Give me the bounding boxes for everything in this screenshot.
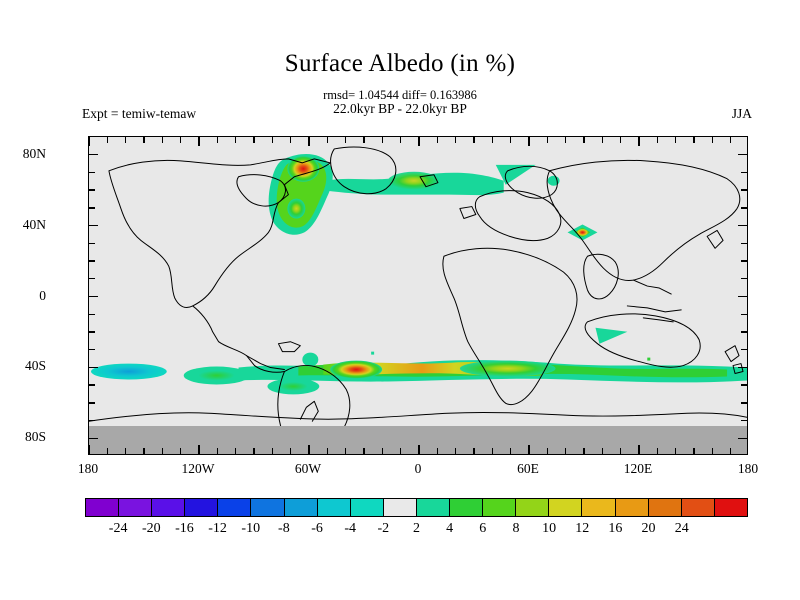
anomaly-tierra-del-fuego	[302, 353, 318, 367]
x-axis-label: 120E	[624, 461, 653, 477]
colorbar-cell[interactable]	[185, 499, 218, 516]
colorbar-tick-label: 2	[413, 521, 420, 537]
x-axis-tick	[162, 448, 163, 454]
x-axis-tick	[510, 448, 511, 454]
anomaly-south-pacific-cool	[91, 364, 167, 380]
experiment-label: Expt = temiw-temaw	[82, 106, 196, 122]
colorbar-cell[interactable]	[417, 499, 450, 516]
x-axis-tick	[510, 137, 511, 143]
x-axis-tick	[125, 137, 126, 143]
x-axis-tick	[180, 137, 181, 143]
colorbar-cell[interactable]	[616, 499, 649, 516]
x-axis-tick	[290, 137, 291, 143]
anomaly-south-pacific-green	[184, 367, 250, 385]
x-axis-tick	[418, 445, 419, 454]
x-axis-tick	[400, 448, 401, 454]
y-axis-tick	[738, 296, 747, 297]
colorbar-tick-label: 10	[542, 521, 556, 537]
y-axis-tick	[89, 278, 95, 279]
colorbar-cell[interactable]	[119, 499, 152, 516]
colorbar-tick-label: -12	[208, 521, 227, 537]
colorbar-cell[interactable]	[549, 499, 582, 516]
y-axis-tick	[738, 154, 747, 155]
x-axis-tick	[217, 448, 218, 454]
y-axis-tick	[741, 420, 747, 421]
chart-title: Surface Albedo (in %)	[0, 50, 800, 78]
x-axis-tick	[272, 137, 273, 143]
y-axis-tick	[89, 243, 95, 244]
x-axis-tick	[620, 137, 621, 143]
x-axis-tick	[363, 137, 364, 143]
y-axis-tick	[738, 225, 747, 226]
x-axis-label: 0	[415, 461, 422, 477]
y-axis-tick	[741, 402, 747, 403]
x-axis-tick	[730, 448, 731, 454]
colorbar-tick-label: -8	[278, 521, 290, 537]
x-axis-tick	[602, 137, 603, 143]
x-axis-tick	[88, 445, 89, 454]
season-label: JJA	[732, 106, 752, 122]
x-axis-tick	[620, 448, 621, 454]
x-axis-tick	[382, 137, 383, 143]
x-axis-tick	[730, 137, 731, 143]
x-axis-tick	[418, 137, 419, 146]
x-axis-label: 60E	[517, 461, 539, 477]
map-plot-area	[88, 136, 748, 455]
colorbar-tick-label: 4	[446, 521, 453, 537]
x-axis-tick	[638, 445, 639, 454]
x-axis-tick	[198, 445, 199, 454]
x-axis-tick	[693, 137, 694, 143]
y-axis-tick	[738, 367, 747, 368]
y-axis-tick	[741, 331, 747, 332]
colorbar-tick-label: 6	[479, 521, 486, 537]
colorbar-cell[interactable]	[483, 499, 516, 516]
x-axis-tick	[437, 137, 438, 143]
y-axis-tick	[89, 402, 95, 403]
x-axis-label: 60W	[295, 461, 321, 477]
x-axis-tick	[382, 448, 383, 454]
colorbar-cell[interactable]	[516, 499, 549, 516]
anomaly-south-indian-warm	[460, 361, 556, 377]
x-axis-tick	[455, 448, 456, 454]
colorbar-cell[interactable]	[86, 499, 119, 516]
colorbar-cell[interactable]	[715, 499, 747, 516]
figure-root: Surface Albedo (in %) rmsd= 1.04544 diff…	[0, 0, 800, 600]
y-axis-tick	[741, 349, 747, 350]
x-axis-tick	[565, 448, 566, 454]
x-axis-tick	[693, 448, 694, 454]
y-axis-label: 40N	[23, 217, 46, 233]
colorbar-tick-label: 8	[512, 521, 519, 537]
y-axis-tick	[89, 349, 95, 350]
colorbar-tick-label: -10	[241, 521, 260, 537]
x-axis-tick	[107, 448, 108, 454]
colorbar-tick-label: -20	[142, 521, 161, 537]
colorbar-cell[interactable]	[285, 499, 318, 516]
x-axis-tick	[400, 137, 401, 143]
x-axis-tick	[162, 137, 163, 143]
x-axis-tick	[492, 137, 493, 143]
colorbar-cell[interactable]	[384, 499, 417, 516]
colorbar-cell[interactable]	[450, 499, 483, 516]
x-axis-tick	[583, 448, 584, 454]
x-axis-tick	[675, 137, 676, 143]
x-axis-tick	[675, 448, 676, 454]
colorbar-tick-label: -2	[378, 521, 390, 537]
colorbar-cell[interactable]	[649, 499, 682, 516]
y-axis-tick	[741, 260, 747, 261]
y-axis-tick	[89, 260, 95, 261]
y-axis-tick	[89, 384, 95, 385]
x-axis-label: 120W	[182, 461, 215, 477]
x-axis-tick	[345, 448, 346, 454]
y-axis-tick	[741, 207, 747, 208]
x-axis-tick	[125, 448, 126, 454]
y-axis-label: 40S	[25, 358, 46, 374]
y-axis-tick	[89, 420, 95, 421]
colorbar-tick-label: -6	[311, 521, 323, 537]
x-axis-tick	[327, 448, 328, 454]
y-axis-tick	[741, 314, 747, 315]
anomaly-south-atlantic-hotspot	[330, 361, 382, 379]
x-axis-tick	[217, 137, 218, 143]
y-axis-tick	[738, 438, 747, 439]
y-axis-tick	[741, 278, 747, 279]
x-axis-tick	[712, 448, 713, 454]
colorbar-tick-label: -24	[109, 521, 128, 537]
x-axis-tick	[88, 137, 89, 146]
x-axis-tick	[473, 137, 474, 143]
y-axis-tick	[89, 438, 98, 439]
y-axis-tick	[741, 189, 747, 190]
x-axis-tick	[345, 137, 346, 143]
x-axis-tick	[583, 137, 584, 143]
x-axis-tick	[235, 137, 236, 143]
x-axis-tick	[565, 137, 566, 143]
colorbar-tick-label: 20	[642, 521, 656, 537]
x-axis-tick	[235, 448, 236, 454]
colorbar-tick-label: 24	[675, 521, 689, 537]
colorbar-tick-label: 12	[575, 521, 589, 537]
x-axis-tick	[180, 448, 181, 454]
anomaly-labrador-core	[287, 199, 305, 219]
x-axis-tick	[253, 448, 254, 454]
colorbar-cell[interactable]	[218, 499, 251, 516]
colorbar-cell[interactable]	[318, 499, 351, 516]
x-axis-label: 180	[738, 461, 758, 477]
y-axis-tick	[741, 243, 747, 244]
colorbar-tick-label: -4	[344, 521, 356, 537]
x-axis-tick	[290, 448, 291, 454]
x-axis-tick	[198, 137, 199, 146]
x-axis-tick	[712, 137, 713, 143]
map-canvas	[89, 137, 747, 454]
y-axis-label: 80N	[23, 146, 46, 162]
y-axis-label: 80S	[25, 429, 46, 445]
x-axis-tick	[638, 137, 639, 146]
x-axis-tick	[437, 448, 438, 454]
y-axis-tick	[89, 367, 98, 368]
x-axis-tick	[528, 445, 529, 454]
y-axis-tick	[89, 225, 98, 226]
y-axis-tick	[741, 384, 747, 385]
y-axis-tick	[741, 172, 747, 173]
colorbar-cell[interactable]	[152, 499, 185, 516]
anomaly-patagonia	[267, 378, 319, 394]
y-axis-tick	[89, 207, 95, 208]
anomaly-speck-1	[371, 352, 374, 355]
map-clip	[89, 137, 747, 454]
x-axis-tick	[143, 137, 144, 143]
x-axis-tick	[492, 448, 493, 454]
colorbar-cell[interactable]	[251, 499, 284, 516]
x-axis-tick	[528, 137, 529, 146]
x-axis-label: 180	[78, 461, 98, 477]
y-axis-tick	[89, 331, 95, 332]
anomaly-speck-2	[647, 358, 650, 361]
x-axis-tick	[327, 137, 328, 143]
x-axis-tick	[473, 448, 474, 454]
y-axis-tick	[89, 172, 95, 173]
y-axis-tick	[89, 296, 98, 297]
colorbar[interactable]	[85, 498, 748, 517]
x-axis-tick	[143, 448, 144, 454]
x-axis-tick	[547, 137, 548, 143]
x-axis-tick	[308, 137, 309, 146]
colorbar-tick-label: -16	[175, 521, 194, 537]
x-axis-tick	[308, 445, 309, 454]
colorbar-tick-label: 16	[608, 521, 622, 537]
x-axis-tick	[547, 448, 548, 454]
y-axis-tick	[89, 189, 95, 190]
y-axis-tick	[89, 314, 95, 315]
x-axis-tick	[602, 448, 603, 454]
x-axis-tick	[657, 448, 658, 454]
y-axis-tick	[89, 154, 98, 155]
x-axis-tick	[272, 448, 273, 454]
x-axis-tick	[657, 137, 658, 143]
x-axis-tick	[363, 448, 364, 454]
y-axis-label: 0	[39, 288, 46, 304]
x-axis-tick	[253, 137, 254, 143]
x-axis-tick	[107, 137, 108, 143]
colorbar-cell[interactable]	[582, 499, 615, 516]
anomaly-west-australia-wedge	[595, 328, 627, 344]
colorbar-cell[interactable]	[351, 499, 384, 516]
colorbar-cell[interactable]	[682, 499, 715, 516]
x-axis-tick	[455, 137, 456, 143]
